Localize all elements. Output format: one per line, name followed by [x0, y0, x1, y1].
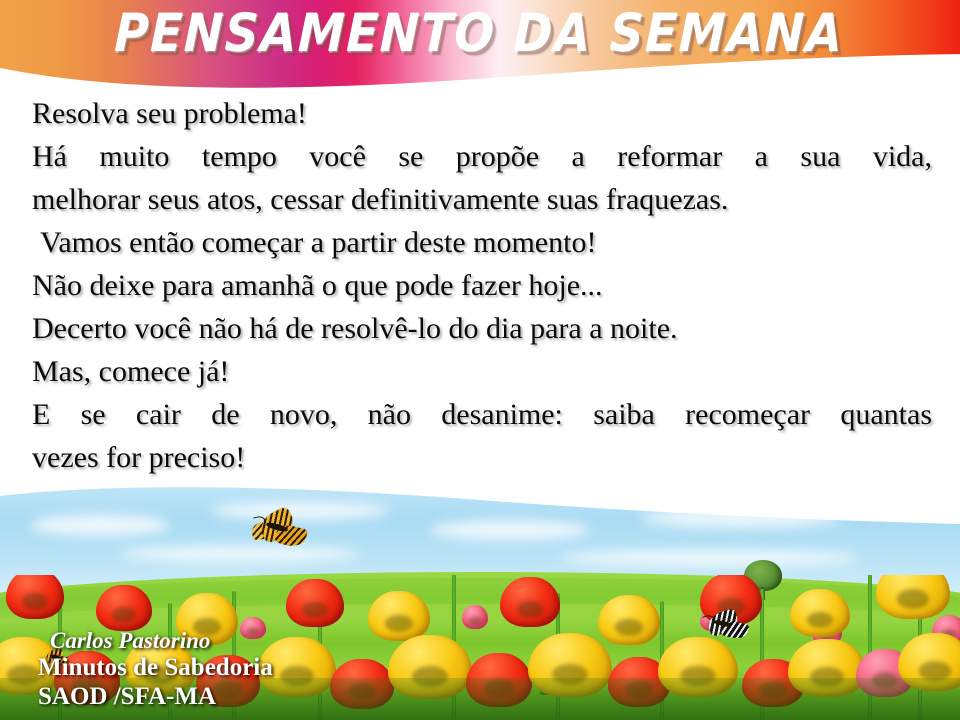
butterfly-icon: [700, 612, 752, 644]
quote-line: vezes for preciso!: [32, 436, 932, 479]
quote-line: Decerto você não há de resolvê-lo do dia…: [32, 307, 932, 350]
quote-line: Vamos então começar a partir deste momen…: [32, 221, 932, 264]
credits-block: Carlos Pastorino Minutos de Sabedoria SA…: [38, 628, 273, 711]
quote-line: Resolva seu problema!: [32, 92, 932, 135]
quote-line: E se cair de novo, não desanime: saiba r…: [32, 393, 932, 436]
credit-book-title: Minutos de Sabedoria: [38, 653, 273, 682]
tulip-flower: [286, 579, 344, 627]
tulip-flower: [876, 575, 950, 619]
tulip-flower: [368, 591, 430, 641]
slide-canvas: PENSAMENTO DA SEMANA Resolva seu problem…: [0, 0, 960, 720]
cloud-icon: [120, 546, 360, 562]
quote-text-block: Resolva seu problema! Há muito tempo voc…: [32, 92, 932, 479]
cloud-icon: [560, 550, 860, 566]
tulip-flower: [462, 605, 488, 629]
tulip-flower: [598, 595, 660, 645]
credit-organization: SAOD /SFA-MA: [38, 682, 273, 711]
cloud-icon: [430, 520, 590, 540]
tulip-flower: [6, 575, 64, 619]
tulip-flower: [500, 577, 560, 627]
tulip-flower: [790, 589, 850, 637]
header-banner: PENSAMENTO DA SEMANA: [0, 0, 960, 96]
quote-line: melhorar seus atos, cessar definitivamen…: [32, 178, 932, 221]
quote-line: Há muito tempo você se propõe a reformar…: [32, 135, 932, 178]
butterfly-icon: [250, 512, 310, 552]
quote-line: Não deixe para amanhã o que pode fazer h…: [32, 264, 932, 307]
cloud-icon: [640, 508, 840, 528]
tulip-flower: [96, 585, 152, 631]
credit-author: Carlos Pastorino: [38, 628, 273, 653]
quote-line: Mas, comece já!: [32, 350, 932, 393]
cloud-icon: [30, 514, 170, 536]
page-title: PENSAMENTO DA SEMANA: [0, 3, 960, 65]
